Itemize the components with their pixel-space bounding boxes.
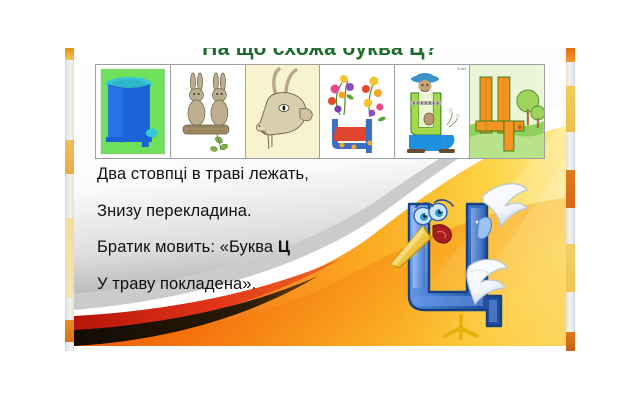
strip-cell-two-rabbits-on-log[interactable]: [171, 65, 246, 158]
slide-edge-ribbon-right: [566, 48, 575, 351]
slide-canvas: На що схожа буква Ц?: [0, 0, 640, 400]
poem-line-2-text: Знизу перекладина.: [97, 202, 252, 220]
poem-line-1: Два стовпці в траві лежать,: [97, 166, 397, 183]
presentation-slide: На що схожа буква Ц?: [65, 48, 575, 351]
poem-text-block: Два стовпці в траві лежать, Знизу перекл…: [97, 166, 397, 292]
strip-cell-goat-head[interactable]: [246, 65, 321, 158]
slide-edge-ribbon-left: [65, 48, 74, 351]
poem-line-3-text: Братик мовить: «Буква: [97, 238, 278, 256]
poem-line-3-letter: Ц: [278, 238, 290, 256]
strip-cell-wooden-fence[interactable]: [470, 65, 544, 158]
strip-cell-barrel[interactable]: [96, 65, 171, 158]
picture-strip: 8 лет: [95, 64, 545, 159]
poem-line-3: Братик мовить: «Буква Ц: [97, 239, 397, 256]
poem-line-2: Знизу перекладина.: [97, 203, 397, 220]
strip-cell-gardener[interactable]: 8 лет: [395, 65, 470, 158]
poem-line-4-text: У траву покладена».: [97, 275, 256, 293]
strip-cell-flower-vase[interactable]: [320, 65, 395, 158]
letter-ts-stork-illustration: [383, 168, 533, 343]
strip-cell-tiny-text: 8 лет: [457, 67, 466, 71]
poem-line-1-text: Два стовпці в траві лежать,: [97, 165, 309, 183]
poem-line-4: У траву покладена».: [97, 276, 397, 293]
